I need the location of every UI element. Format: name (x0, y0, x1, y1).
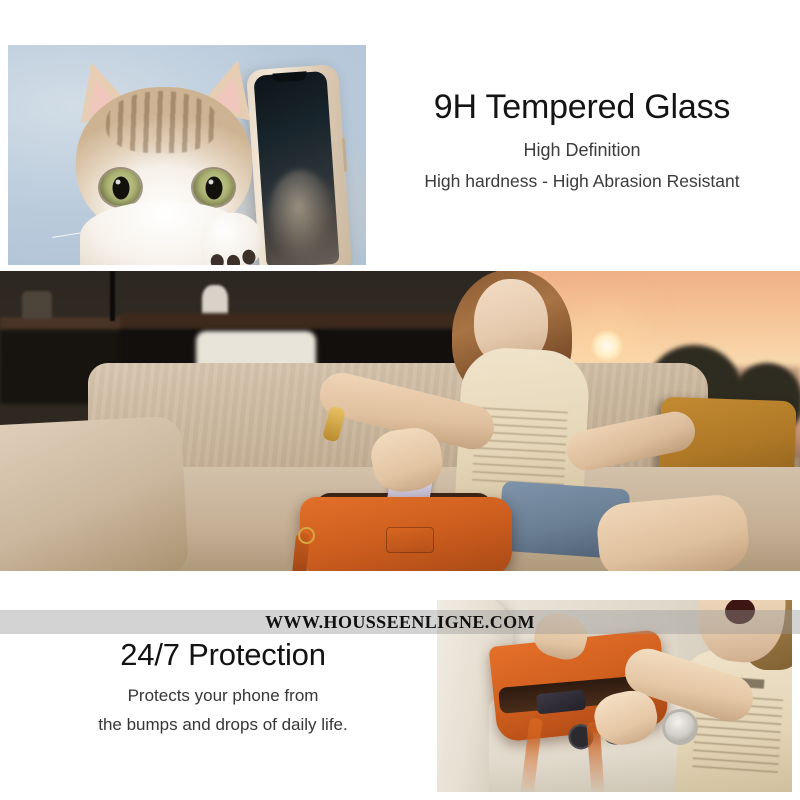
protection-headline: 24/7 Protection (16, 638, 430, 672)
tempered-glass-subheadline-1: High Definition (372, 140, 792, 161)
floor-lamp-pole (110, 271, 115, 321)
white-divider (0, 571, 800, 603)
kitten-eye-right (193, 169, 234, 206)
kitten-pupil-right (205, 176, 222, 199)
kitten-eye-left (100, 169, 141, 206)
tempered-glass-text-block: 9H Tempered Glass High Definition High h… (372, 88, 792, 192)
kitten-illustration (60, 57, 272, 265)
tempered-glass-headline: 9H Tempered Glass (372, 88, 792, 126)
handbag-front-tab (386, 527, 434, 553)
kitten-toe (226, 254, 241, 265)
setting-sun (590, 329, 624, 363)
handbag-hardware-ring (298, 527, 315, 544)
kitten-pupil-left (112, 176, 129, 199)
cat-touching-phone-photo (8, 45, 366, 265)
tempered-glass-subheadline-2: High hardness - High Abrasion Resistant (372, 171, 792, 192)
sofa-armrest (0, 415, 189, 571)
kitten-forehead-stripes (106, 91, 218, 153)
product-feature-banner: 9H Tempered Glass High Definition High h… (0, 0, 800, 800)
protection-text-block: 24/7 Protection Protects your phone from… (16, 638, 430, 735)
kitten-toe (210, 253, 225, 265)
kitten-toe (241, 249, 256, 265)
protection-subheadline-2: the bumps and drops of daily life. (16, 715, 430, 735)
protection-subheadline-1: Protects your phone from (16, 686, 430, 706)
watermark-url: WWW.HOUSSEENLIGNE.COM (265, 612, 535, 633)
watermark-band: WWW.HOUSSEENLIGNE.COM (0, 610, 800, 634)
shelf-decor-object (22, 291, 52, 319)
woman-placing-phone-in-bag-photo (0, 271, 800, 571)
woman-leg (595, 493, 751, 571)
